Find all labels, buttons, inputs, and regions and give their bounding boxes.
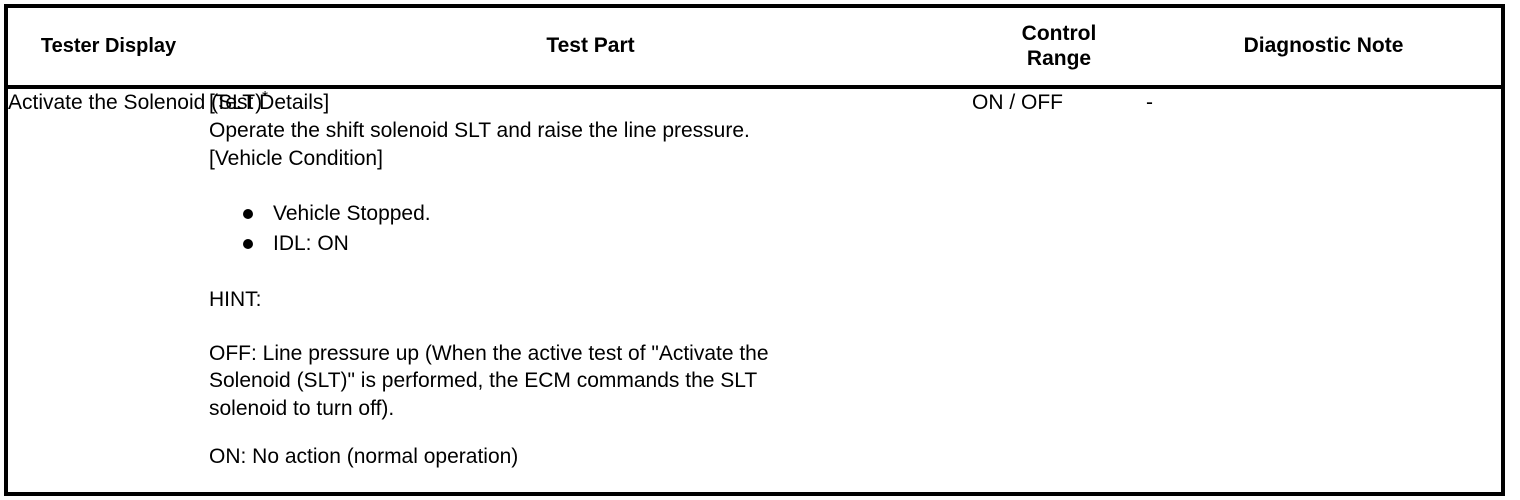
cell-test-part: [Test Details] Operate the shift solenoi… — [209, 87, 972, 500]
bullet-icon — [243, 239, 253, 249]
column-header-test-part: Test Part — [209, 8, 972, 87]
hint-on-line: ON: No action (normal operation) — [209, 443, 972, 471]
active-test-table-container: Tester Display Test Part Control Range D… — [4, 4, 1505, 496]
spacer — [209, 173, 972, 199]
list-item: IDL: ON — [243, 229, 972, 259]
hint-off-line-1: OFF: Line pressure up (When the active t… — [209, 340, 972, 368]
hint-off-line-2: Solenoid (SLT)" is performed, the ECM co… — [209, 367, 972, 395]
cell-tester-display: Activate the Solenoid (SLT)* — [8, 87, 209, 500]
table-header-row: Tester Display Test Part Control Range D… — [8, 8, 1501, 87]
column-header-diagnostic-note: Diagnostic Note — [1146, 8, 1501, 87]
cell-control-range: ON / OFF — [972, 87, 1146, 500]
list-item-label: IDL: ON — [273, 232, 349, 255]
vehicle-condition-list: Vehicle Stopped. IDL: ON — [209, 199, 972, 260]
test-details-text: Operate the shift solenoid SLT and raise… — [209, 117, 972, 145]
column-header-tester-display: Tester Display — [8, 8, 209, 87]
control-range-label-line2: Range — [1027, 47, 1091, 70]
column-header-control-range: Control Range — [972, 8, 1146, 87]
test-details-heading: [Test Details] — [209, 89, 972, 117]
spacer — [209, 423, 972, 443]
table-row: Activate the Solenoid (SLT)* [Test Detai… — [8, 87, 1501, 500]
spacer — [209, 260, 972, 286]
vehicle-condition-heading: [Vehicle Condition] — [209, 145, 972, 173]
hint-off-line-3: solenoid to turn off). — [209, 395, 972, 423]
cell-diagnostic-note: - — [1146, 87, 1501, 500]
bullet-icon — [243, 209, 253, 219]
list-item-label: Vehicle Stopped. — [273, 202, 431, 225]
active-test-table: Tester Display Test Part Control Range D… — [8, 8, 1501, 500]
spacer — [209, 314, 972, 340]
control-range-label-line1: Control — [1022, 22, 1097, 45]
hint-heading: HINT: — [209, 286, 972, 314]
list-item: Vehicle Stopped. — [243, 199, 972, 229]
